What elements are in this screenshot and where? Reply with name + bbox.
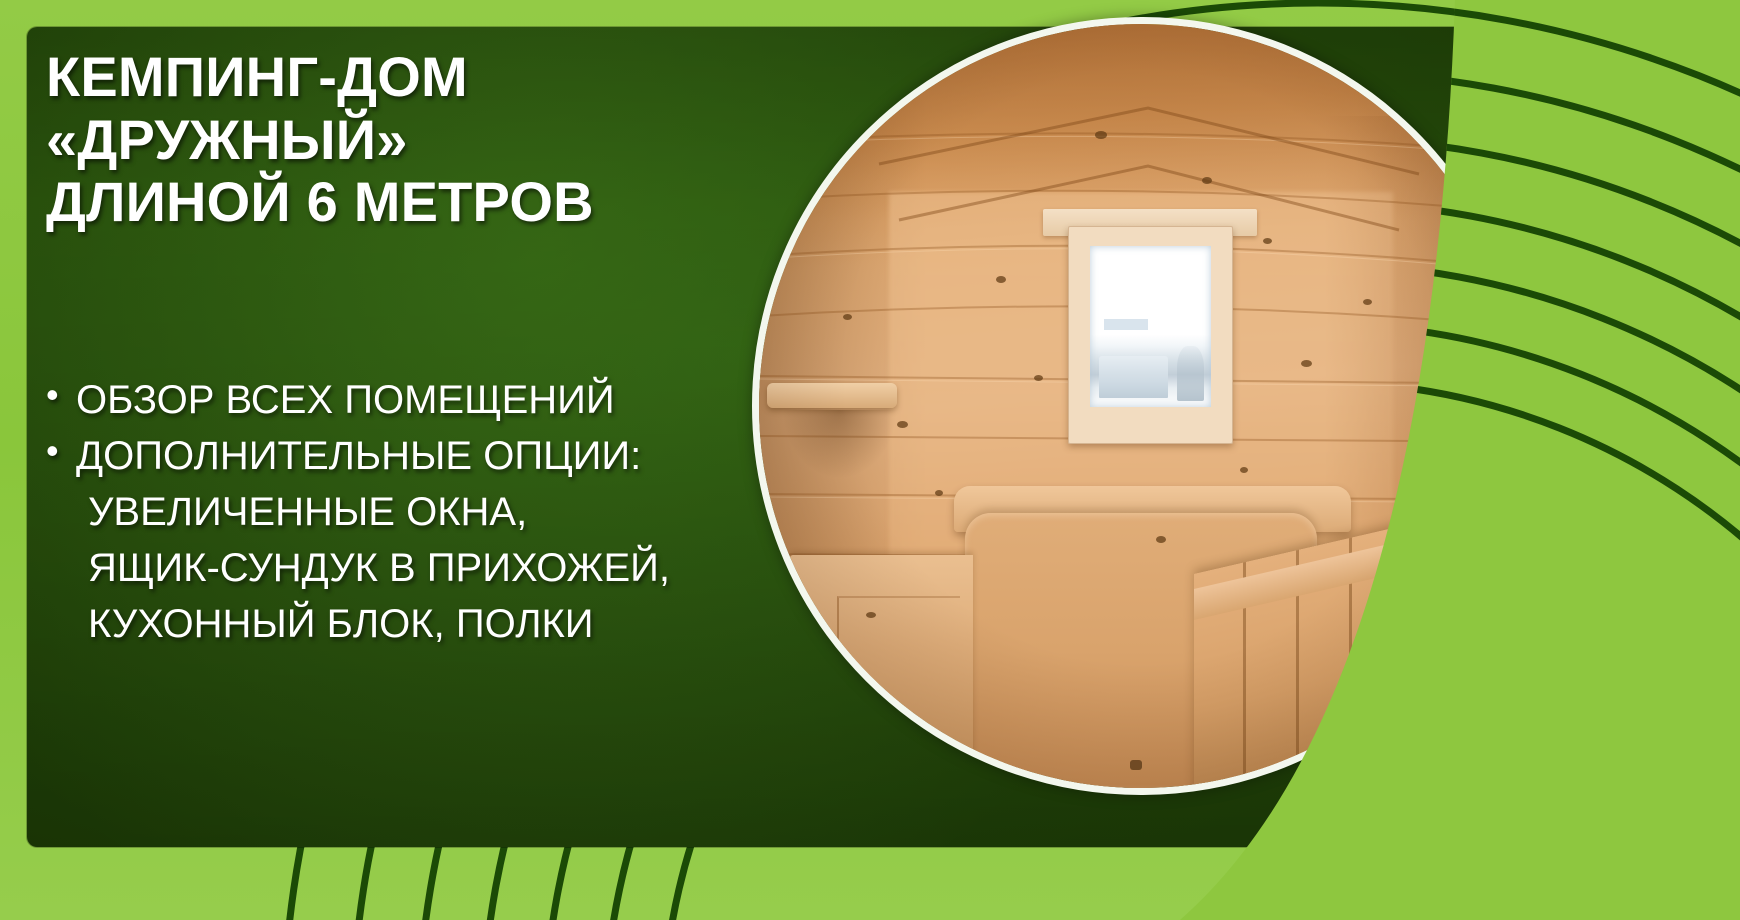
list-item: ДОПОЛНИТЕЛЬНЫЕ ОПЦИИ: <box>46 430 836 482</box>
feature-list: ОБЗОР ВСЕХ ПОМЕЩЕНИЙ ДОПОЛНИТЕЛЬНЫЕ ОПЦИ… <box>46 374 836 650</box>
list-item: ЯЩИК-СУНДУК В ПРИХОЖЕЙ, <box>46 542 836 594</box>
list-item: ОБЗОР ВСЕХ ПОМЕЩЕНИЙ <box>46 374 836 426</box>
list-item: УВЕЛИЧЕННЫЕ ОКНА, <box>46 486 836 538</box>
text-column: КЕМПИНГ-ДОМ «ДРУЖНЫЙ» ДЛИНОЙ 6 МЕТРОВ ОБ… <box>46 12 836 654</box>
photo-canvas <box>759 24 1523 788</box>
list-item: КУХОННЫЙ БЛОК, ПОЛКИ <box>46 598 836 650</box>
photo-vignette <box>759 24 1523 788</box>
promo-banner: КЕМПИНГ-ДОМ «ДРУЖНЫЙ» ДЛИНОЙ 6 МЕТРОВ ОБ… <box>0 0 1740 920</box>
cabin-interior-photo <box>752 17 1530 795</box>
headline: КЕМПИНГ-ДОМ «ДРУЖНЫЙ» ДЛИНОЙ 6 МЕТРОВ <box>46 12 836 234</box>
